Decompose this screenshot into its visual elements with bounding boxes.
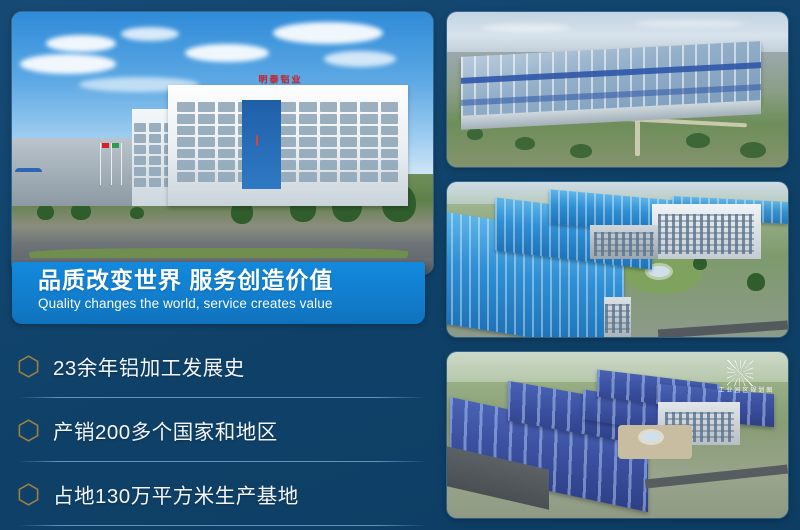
hexagon-outline-icon [18, 483, 39, 506]
list-item: 占地130万平方米生产基地 [0, 462, 437, 526]
window-grid [177, 102, 398, 182]
list-item: 23余年铝加工发展史 [0, 334, 437, 398]
fact-text: 23余年铝加工发展史 [53, 351, 245, 381]
list-item: 产销200多个国家和地区 [0, 398, 437, 462]
row-divider [18, 525, 427, 526]
plant-office-low [590, 225, 658, 259]
render-fountain [641, 432, 661, 442]
hexagon-outline-icon [18, 355, 39, 378]
plant-office-tower [652, 204, 761, 260]
fact-text: 产销200多个国家和地区 [53, 415, 278, 445]
foreground-building [604, 297, 631, 337]
starburst-sparkle-icon [727, 360, 753, 386]
glass-atrium [242, 100, 280, 189]
company-profile-banner: 明泰铝业 [0, 0, 800, 530]
render-caption: 工业园区规划图 [718, 385, 774, 394]
headquarters-office-building-photo: 明泰铝业 [12, 12, 433, 274]
slogan-banner: 品质改变世界 服务创造价值 Quality changes the world,… [12, 262, 425, 324]
company-facts-list: 23余年铝加工发展史 产销200多个国家和地区 占地130万平方米生产基地 [0, 334, 437, 526]
blue-roof-production-plant-photo [447, 182, 788, 337]
building-sign-text: 明泰铝业 [240, 75, 322, 86]
industrial-park-3d-rendering: 工业园区规划图 [447, 352, 788, 518]
render-plaza [618, 425, 692, 459]
company-logo-emblem [256, 135, 258, 146]
main-office-building: 明泰铝业 [168, 85, 408, 206]
blue-roof-strip [15, 168, 43, 171]
slogan-english: Quality changes the world, service creat… [38, 294, 425, 314]
side-workshop-building [12, 138, 138, 206]
fact-text: 占地130万平方米生产基地 [53, 479, 299, 509]
slogan-chinese: 品质改变世界 服务创造价值 [38, 268, 425, 294]
aerial-factory-complex-photo [447, 12, 788, 167]
hexagon-outline-icon [18, 419, 39, 442]
